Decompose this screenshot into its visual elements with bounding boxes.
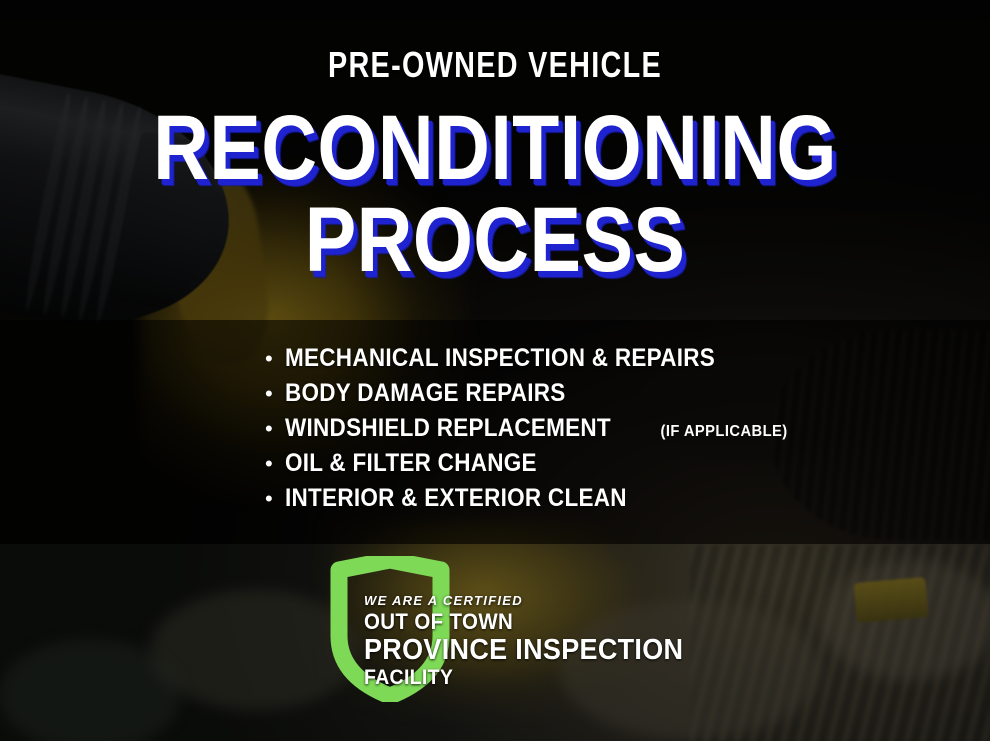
- headline-line-2-text: PROCESS: [305, 188, 686, 293]
- bullet-dot-icon: •: [265, 383, 285, 405]
- service-label: INTERIOR & EXTERIOR CLEAN: [285, 484, 627, 513]
- certification-badge: WE ARE A CERTIFIED OUT OF TOWN PROVINCE …: [326, 556, 686, 702]
- bullet-dot-icon: •: [265, 418, 285, 440]
- badge-line-out-of-town: OUT OF TOWN: [364, 609, 671, 634]
- list-item: • MECHANICAL INSPECTION & REPAIRS: [265, 344, 793, 379]
- service-note: (IF APPLICABLE): [661, 423, 788, 441]
- badge-line-facility: FACILITY: [364, 666, 671, 690]
- badge-line-province-inspection: PROVINCE INSPECTION: [364, 634, 671, 666]
- poster-canvas: PRE-OWNED VEHICLE RECONDITIONING PROCESS…: [0, 0, 990, 741]
- headline-line-1: RECONDITIONING: [79, 96, 911, 201]
- headline-line-1-text: RECONDITIONING: [153, 96, 837, 201]
- list-item: • WINDSHIELD REPLACEMENT (IF APPLICABLE): [265, 414, 793, 449]
- bullet-dot-icon: •: [265, 348, 285, 370]
- eyebrow-text: PRE-OWNED VEHICLE: [99, 44, 891, 86]
- service-label: MECHANICAL INSPECTION & REPAIRS: [285, 344, 715, 373]
- service-label: BODY DAMAGE REPAIRS: [285, 379, 566, 408]
- poster-content: PRE-OWNED VEHICLE RECONDITIONING PROCESS…: [0, 0, 990, 741]
- services-list: • MECHANICAL INSPECTION & REPAIRS • BODY…: [265, 344, 793, 519]
- badge-text-block: WE ARE A CERTIFIED OUT OF TOWN PROVINCE …: [364, 592, 694, 690]
- headline-line-2: PROCESS: [79, 188, 911, 293]
- badge-line-certified: WE ARE A CERTIFIED: [364, 592, 694, 609]
- list-item: • INTERIOR & EXTERIOR CLEAN: [265, 484, 793, 519]
- list-item: • OIL & FILTER CHANGE: [265, 449, 793, 484]
- bullet-dot-icon: •: [265, 488, 285, 510]
- service-label: WINDSHIELD REPLACEMENT: [285, 414, 611, 443]
- bullet-dot-icon: •: [265, 453, 285, 475]
- service-label: OIL & FILTER CHANGE: [285, 449, 537, 478]
- list-item: • BODY DAMAGE REPAIRS: [265, 379, 793, 414]
